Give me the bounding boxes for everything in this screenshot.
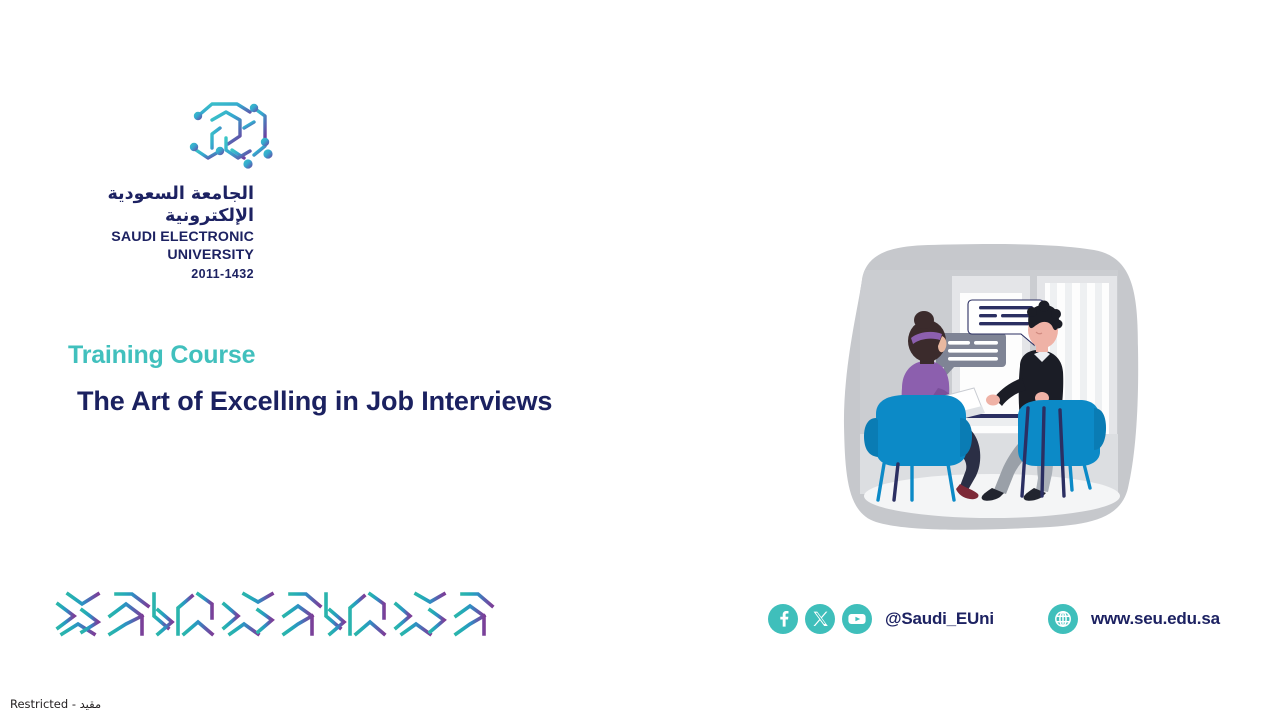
website-url-text: www.seu.edu.sa <box>1091 609 1220 629</box>
logo-arabic-name: الجامعة السعودية الإلكترونية <box>22 184 254 228</box>
logo-english-name: SAUDI ELECTRONIC UNIVERSITY <box>22 228 254 265</box>
seu-hexagon-circuit-logo-icon <box>182 98 282 180</box>
slide-canvas: الجامعة السعودية الإلكترونية SAUDI ELECT… <box>0 0 1280 720</box>
social-handle-text: @Saudi_EUni <box>885 609 994 629</box>
globe-icon[interactable] <box>1048 604 1078 634</box>
job-interview-illustration <box>832 238 1152 543</box>
logo-wordmark: الجامعة السعودية الإلكترونية SAUDI ELECT… <box>22 184 254 283</box>
website-footer: www.seu.edu.sa <box>1048 601 1220 637</box>
seu-circuit-pattern-band <box>48 588 498 640</box>
title-block: Training Course The Art of Excelling in … <box>68 342 688 417</box>
logo-founding-year: 2011-1432 <box>22 265 254 284</box>
course-kicker: Training Course <box>68 342 688 370</box>
classification-label: Restricted - مقيد <box>10 697 101 711</box>
social-icon-group <box>768 604 872 634</box>
page-title: The Art of Excelling in Job Interviews <box>77 386 688 417</box>
facebook-icon[interactable] <box>768 604 798 634</box>
social-footer: @Saudi_EUni <box>768 601 994 637</box>
x-twitter-icon[interactable] <box>805 604 835 634</box>
youtube-icon[interactable] <box>842 604 872 634</box>
